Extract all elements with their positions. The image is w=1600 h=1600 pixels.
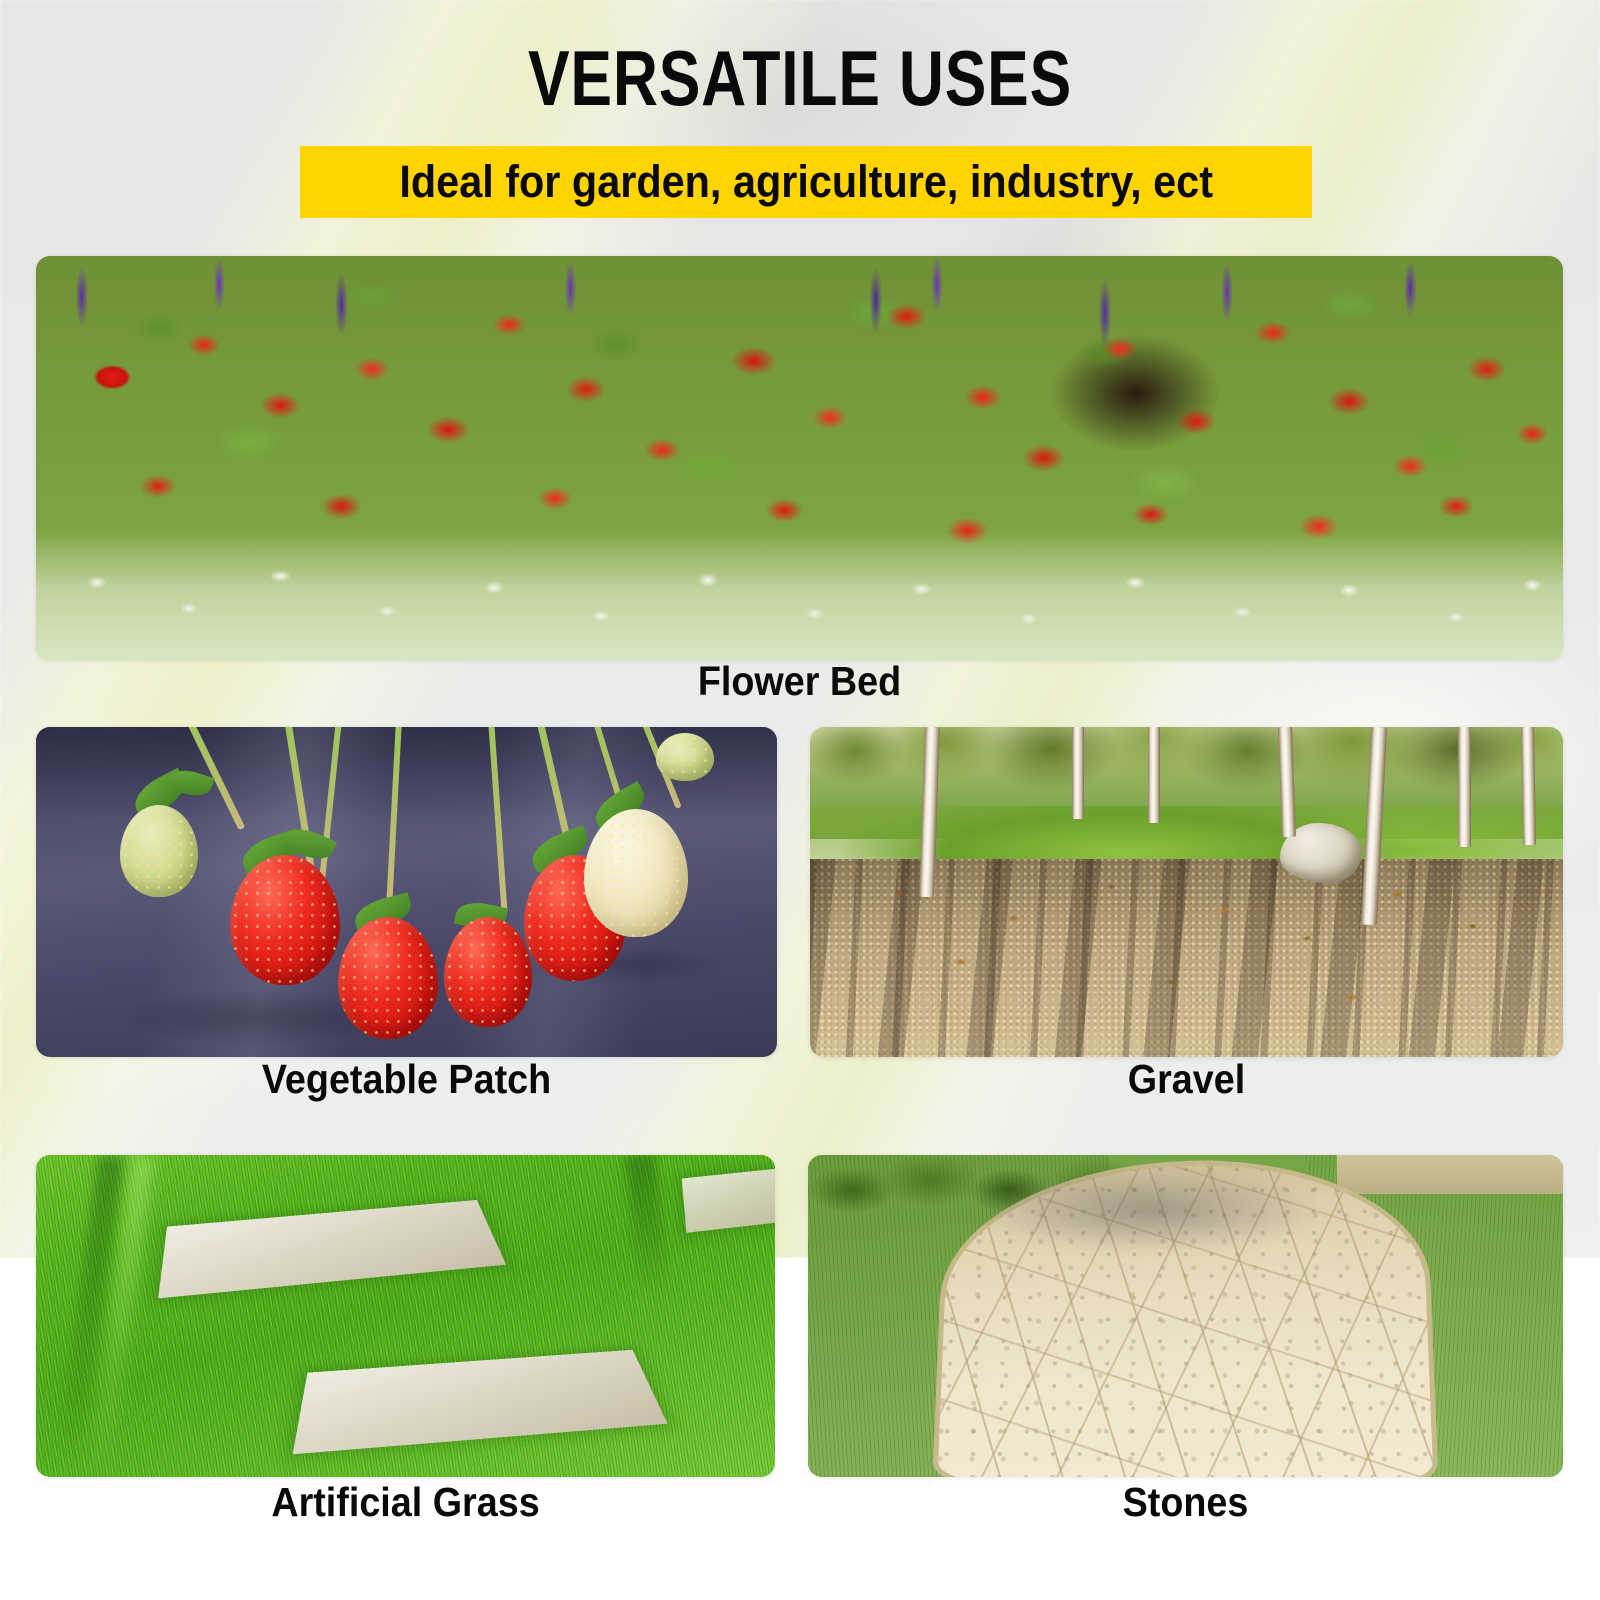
strawberry-ripe — [444, 917, 532, 1027]
strawberry-unripe — [120, 805, 198, 897]
scene-artificial-grass — [36, 1155, 775, 1477]
scene-flower-bed — [36, 256, 1563, 660]
caption-stones: Stones — [838, 1478, 1533, 1526]
path-shadow — [974, 1168, 1321, 1252]
strawberry-ripe — [230, 855, 340, 985]
background-wall — [1337, 1155, 1564, 1194]
tree-trunk — [1072, 727, 1084, 819]
subtitle-banner: Ideal for garden, agriculture, industry,… — [300, 146, 1312, 218]
scene-gravel — [810, 727, 1563, 1057]
scene-vegetable-patch — [36, 727, 777, 1057]
photo-card-artificial-grass[interactable] — [36, 1155, 775, 1477]
tree-trunk — [1458, 727, 1471, 847]
caption-gravel: Gravel — [840, 1055, 1533, 1103]
subtitle-text: Ideal for garden, agriculture, industry,… — [399, 156, 1213, 208]
strawberry-ripe — [338, 917, 438, 1039]
berry-seed-texture — [230, 855, 340, 985]
berry-seed-texture — [656, 733, 714, 781]
strawberry-unripe — [656, 733, 714, 781]
photo-card-vegetable-patch[interactable] — [36, 727, 777, 1057]
stepping-paver — [682, 1167, 775, 1233]
tree-trunk — [1521, 727, 1536, 845]
caption-artificial-grass: Artificial Grass — [66, 1478, 746, 1526]
berry-seed-texture — [338, 917, 438, 1039]
strawberry-white — [584, 809, 688, 937]
berry-seed-texture — [444, 917, 532, 1027]
photo-card-stones[interactable] — [808, 1155, 1563, 1477]
berry-seed-texture — [584, 809, 688, 937]
page-title: VERSATILE USES — [160, 36, 1440, 120]
infographic-page: VERSATILE USES Ideal for garden, agricul… — [0, 0, 1600, 1600]
berry-seed-texture — [120, 805, 198, 897]
caption-flower-bed: Flower Bed — [97, 657, 1502, 705]
white-alyssum-layer — [36, 531, 1563, 660]
scene-stones — [808, 1155, 1563, 1477]
photo-card-gravel[interactable] — [810, 727, 1563, 1057]
photo-card-flower-bed[interactable] — [36, 256, 1563, 660]
caption-vegetable-patch: Vegetable Patch — [66, 1055, 748, 1103]
tree-trunk — [1148, 727, 1160, 823]
